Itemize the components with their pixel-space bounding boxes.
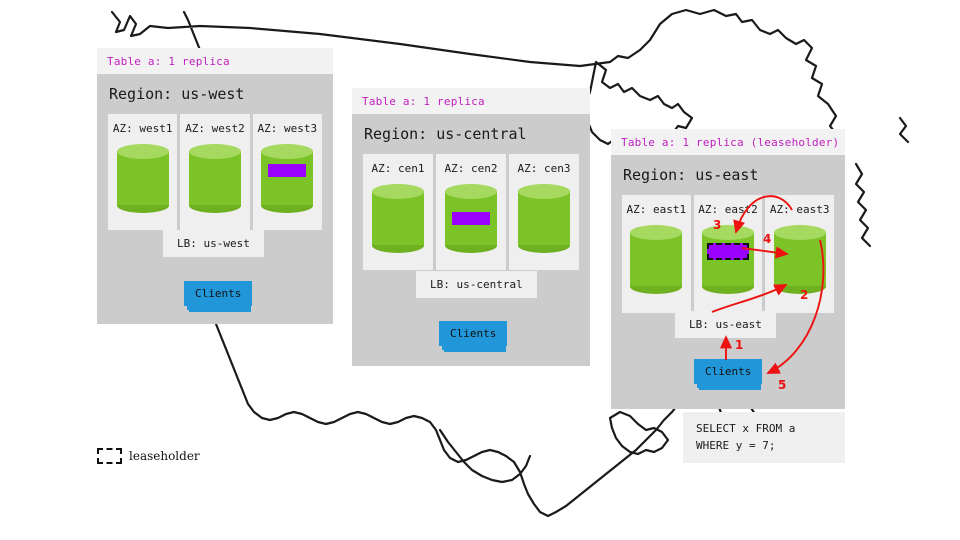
region-panel-us-east: Table a: 1 replica (leaseholder) Region:… (611, 129, 845, 409)
replica-cylinder-west3[interactable] (261, 144, 313, 212)
clients-node-us-east[interactable]: Clients (694, 359, 762, 384)
cylinder-body (630, 232, 682, 286)
load-balancer-us-central[interactable]: LB: us-central (416, 271, 537, 298)
region-title-us-west: Region: us-west (108, 74, 322, 114)
az-cell-west2[interactable]: AZ: west2 (180, 114, 249, 230)
az-cell-cen2[interactable]: AZ: cen2 (436, 154, 506, 270)
replica-cylinder-cen2[interactable] (445, 184, 497, 252)
cylinder-top (702, 225, 754, 240)
az-label-cen1: AZ: cen1 (372, 162, 425, 175)
panel-header-us-east: Table a: 1 replica (leaseholder) (611, 129, 845, 155)
az-label-east3: AZ: east3 (770, 203, 830, 216)
az-label-west3: AZ: west3 (258, 122, 318, 135)
replica-cylinder-west1[interactable] (117, 144, 169, 212)
cylinder-body (261, 151, 313, 205)
arrow-label-4: 4 (763, 232, 771, 246)
legend-label: leaseholder (129, 449, 200, 463)
cylinder-body (189, 151, 241, 205)
replica-marker-west3 (268, 164, 306, 177)
az-cell-cen3[interactable]: AZ: cen3 (509, 154, 579, 270)
arrow-label-3: 3 (713, 218, 721, 232)
az-label-cen3: AZ: cen3 (518, 162, 571, 175)
az-cell-east2[interactable]: AZ: east2 (694, 195, 763, 313)
cylinder-body (372, 191, 424, 245)
cylinder-top (117, 144, 169, 159)
diagram-canvas: Table a: 1 replica Region: us-west AZ: w… (0, 0, 960, 540)
cylinder-body (774, 232, 826, 286)
arrow-label-5: 5 (778, 378, 786, 392)
replica-cylinder-cen1[interactable] (372, 184, 424, 252)
az-cell-west3[interactable]: AZ: west3 (253, 114, 322, 230)
region-title-us-east: Region: us-east (622, 155, 834, 195)
replica-cylinder-east3[interactable] (774, 225, 826, 293)
az-cell-cen1[interactable]: AZ: cen1 (363, 154, 433, 270)
arrow-label-1: 1 (735, 338, 743, 352)
az-cell-east1[interactable]: AZ: east1 (622, 195, 691, 313)
replica-marker-cen2 (452, 212, 490, 225)
cylinder-top (518, 184, 570, 199)
dashed-rect-icon (97, 448, 122, 464)
legend: leaseholder (97, 448, 200, 464)
az-cell-west1[interactable]: AZ: west1 (108, 114, 177, 230)
replica-cylinder-west2[interactable] (189, 144, 241, 212)
panel-header-us-west: Table a: 1 replica (97, 48, 333, 74)
cylinder-top (630, 225, 682, 240)
region-panel-us-central: Table a: 1 replica Region: us-central AZ… (352, 88, 590, 366)
cylinder-top (189, 144, 241, 159)
az-label-east1: AZ: east1 (627, 203, 687, 216)
az-row-us-central: AZ: cen1 AZ: cen2 (363, 154, 579, 270)
clients-label-us-central[interactable]: Clients (439, 321, 507, 346)
clients-node-us-central[interactable]: Clients (439, 321, 507, 346)
region-panel-us-west: Table a: 1 replica Region: us-west AZ: w… (97, 48, 333, 324)
leaseholder-marker-east2 (707, 243, 749, 260)
replica-cylinder-east1[interactable] (630, 225, 682, 293)
sql-query-box: SELECT x FROM a WHERE y = 7; (683, 412, 845, 463)
panel-header-us-central: Table a: 1 replica (352, 88, 590, 114)
cylinder-body (117, 151, 169, 205)
region-title-us-central: Region: us-central (363, 114, 579, 154)
clients-label-us-east[interactable]: Clients (694, 359, 762, 384)
cylinder-top (774, 225, 826, 240)
replica-cylinder-east2[interactable] (702, 225, 754, 293)
load-balancer-us-east[interactable]: LB: us-east (675, 311, 776, 338)
replica-cylinder-cen3[interactable] (518, 184, 570, 252)
cylinder-top (372, 184, 424, 199)
cylinder-top (261, 144, 313, 159)
arrow-label-2: 2 (800, 288, 808, 302)
az-label-cen2: AZ: cen2 (445, 162, 498, 175)
clients-label-us-west[interactable]: Clients (184, 281, 252, 306)
cylinder-top (445, 184, 497, 199)
load-balancer-us-west[interactable]: LB: us-west (163, 230, 264, 257)
az-label-west2: AZ: west2 (185, 122, 245, 135)
cylinder-body (518, 191, 570, 245)
az-label-west1: AZ: west1 (113, 122, 173, 135)
az-label-east2: AZ: east2 (698, 203, 758, 216)
az-row-us-west: AZ: west1 AZ: west2 AZ (108, 114, 322, 230)
clients-node-us-west[interactable]: Clients (184, 281, 252, 306)
